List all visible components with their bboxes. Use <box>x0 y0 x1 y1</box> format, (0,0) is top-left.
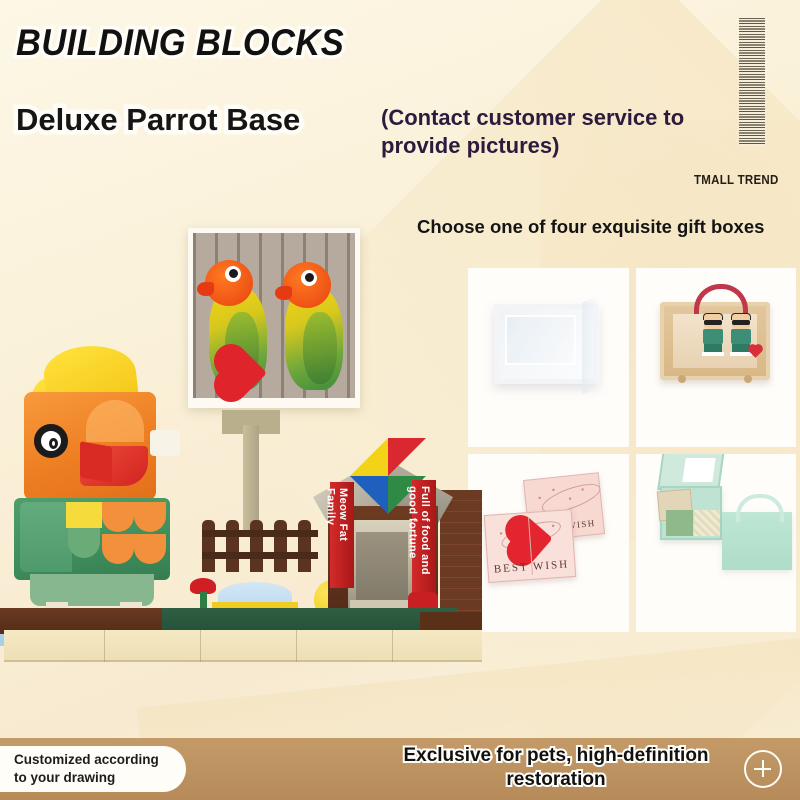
platform-seam <box>296 630 297 662</box>
gift-option-wooden-box[interactable] <box>636 268 797 447</box>
pinwheel-blade-yellow <box>350 438 388 476</box>
acrylic-case-icon <box>494 304 599 384</box>
platform-base <box>4 630 482 662</box>
parrot-body-highlight <box>20 502 72 572</box>
minifigure-left <box>701 314 725 354</box>
mint-gift-bag-icon <box>722 512 792 570</box>
barcode-icon <box>739 18 765 146</box>
box-filler-right <box>694 510 720 536</box>
brick-wall <box>440 490 482 620</box>
fence-picket <box>250 520 263 572</box>
brand-tag: TMALL TREND <box>694 173 779 187</box>
fence-rail <box>202 552 318 559</box>
pill-text: Customized according to your drawing <box>14 751 159 786</box>
figure-base <box>702 352 724 356</box>
platform-seam <box>392 630 393 662</box>
fence-picket <box>298 520 311 572</box>
pill-line-1: Customized according <box>14 752 159 767</box>
box-handle-icon <box>694 284 748 314</box>
plus-circle-icon[interactable] <box>744 750 782 788</box>
fence-picket <box>226 520 239 572</box>
figure-body <box>703 329 723 344</box>
fence-picket <box>274 520 287 572</box>
mint-box-lid <box>657 454 725 490</box>
customized-pill[interactable]: Customized according to your drawing <box>0 746 186 792</box>
banner-good-fortune: Full of food and good fortune <box>412 480 436 598</box>
figure-base <box>730 352 752 356</box>
banner-meow-fat-family: Meow Fat Family <box>330 482 354 588</box>
bottom-banner: Customized according to your drawing Exc… <box>0 738 800 800</box>
page-title: BUILDING BLOCKS <box>16 22 344 64</box>
bird-pupil <box>229 269 238 278</box>
pinwheel-blade-red <box>388 438 426 476</box>
best-wish-label-front: BEST WISH <box>488 557 575 575</box>
bottom-banner-text: Exclusive for pets, high-definition rest… <box>396 744 716 792</box>
pinwheel-blade-blue <box>350 476 388 514</box>
pill-line-2: to your drawing <box>14 770 115 785</box>
bird-beak <box>197 282 214 296</box>
platform-seam <box>104 630 105 662</box>
gift-box-grid: BEST WISH BEST WISH <box>468 268 796 632</box>
wooden-box-icon <box>660 302 770 380</box>
brick-diorama: Meow Fat Family Full of food and good fo… <box>0 330 500 710</box>
parrot-yellow-brick <box>66 502 102 528</box>
box-foot <box>678 375 686 383</box>
bird-wing <box>303 312 337 384</box>
fence-rail <box>202 530 318 537</box>
parrot-pupil <box>49 438 58 449</box>
box-interior <box>673 314 757 368</box>
advertisement-page: BUILDING BLOCKS Deluxe Parrot Base (Cont… <box>0 0 800 800</box>
box-foot <box>744 375 752 383</box>
figure-glasses-icon <box>704 320 722 325</box>
product-subtitle: Deluxe Parrot Base <box>16 102 300 138</box>
figure-body <box>731 329 751 344</box>
brick-parrot-model <box>8 352 198 612</box>
parrot-tail-stud <box>150 430 180 456</box>
bird-pupil <box>305 273 314 282</box>
gift-option-mint-set[interactable] <box>636 454 797 633</box>
bird-beak <box>275 286 292 300</box>
mint-box-body <box>660 486 722 540</box>
contact-note: (Contact customer service to provide pic… <box>381 104 731 160</box>
gift-section-heading: Choose one of four exquisite gift boxes <box>417 216 764 238</box>
figure-glasses-icon <box>732 320 750 325</box>
box-filler-left <box>666 510 693 536</box>
platform-seam <box>200 630 201 662</box>
parrot-beak-upper <box>80 441 112 483</box>
fence-picket <box>202 520 215 572</box>
